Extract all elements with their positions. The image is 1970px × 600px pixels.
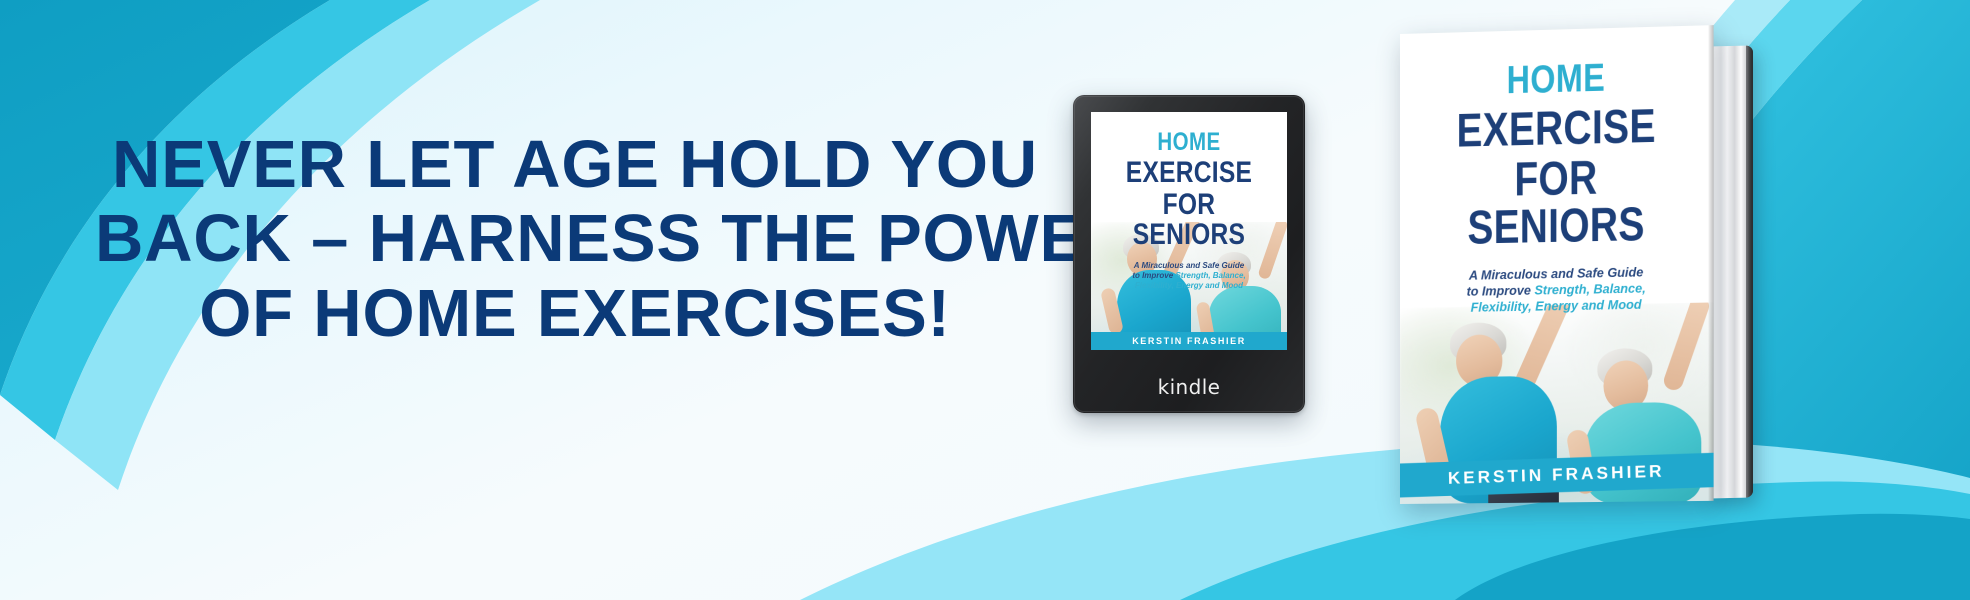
book-front-cover: HOME EXERCISE FOR SENIORS A Miraculous a… — [1400, 25, 1714, 504]
wave-bottom-pale — [800, 440, 1970, 600]
kindle-device-mockup: HOME EXERCISE FOR SENIORS A Miraculous a… — [1073, 95, 1305, 413]
kindle-screen: HOME EXERCISE FOR SENIORS A Miraculous a… — [1091, 112, 1287, 350]
print-cover-subtitle-line-2-plain: to Improve — [1467, 284, 1535, 299]
book-page-edges — [1707, 46, 1753, 499]
cover-title-exercise: EXERCISE — [1109, 158, 1270, 188]
print-cover-subtitle-line-2-highlight: Strength, Balance, — [1534, 281, 1645, 297]
promo-banner: NEVER LET AGE HOLD YOU BACK – HARNESS TH… — [0, 0, 1970, 600]
cover-subtitle-line-2: to Improve Strength, Balance, — [1107, 271, 1271, 281]
print-cover: HOME EXERCISE FOR SENIORS A Miraculous a… — [1400, 25, 1714, 504]
printed-book-mockup: HOME EXERCISE FOR SENIORS A Miraculous a… — [1400, 34, 1710, 504]
cover-subtitle-line-1: A Miraculous and Safe Guide — [1107, 261, 1271, 271]
headline-line-1: NEVER LET AGE HOLD YOU — [95, 128, 1055, 202]
cover-author-band: KERSTIN FRASHIER — [1091, 332, 1287, 350]
headline-line-2: BACK – HARNESS THE POWER — [95, 202, 1055, 276]
cover-title-for-seniors: FOR SENIORS — [1109, 190, 1270, 250]
ebook-cover: HOME EXERCISE FOR SENIORS A Miraculous a… — [1091, 112, 1287, 350]
headline: NEVER LET AGE HOLD YOU BACK – HARNESS TH… — [95, 128, 1055, 351]
print-cover-title-exercise: EXERCISE — [1428, 101, 1685, 155]
print-cover-title-for-seniors: FOR SENIORS — [1428, 151, 1685, 251]
cover-subtitle: A Miraculous and Safe Guide to Improve S… — [1091, 261, 1287, 292]
cover-subtitle-line-3: Flexibility, Energy and Mood — [1107, 281, 1271, 291]
cover-subtitle-line-2-highlight: Strength, Balance, — [1175, 271, 1245, 280]
cover-subtitle-line-2-plain: to Improve — [1132, 271, 1175, 280]
print-cover-subtitle: A Miraculous and Safe Guide to Improve S… — [1400, 263, 1714, 317]
headline-line-3: OF HOME EXERCISES! — [95, 277, 1055, 351]
kindle-brand-label: kindle — [1073, 375, 1305, 399]
print-cover-title-home: HOME — [1428, 56, 1685, 102]
wave-bottom-deep — [1455, 514, 1970, 600]
cover-title-home: HOME — [1109, 130, 1270, 155]
